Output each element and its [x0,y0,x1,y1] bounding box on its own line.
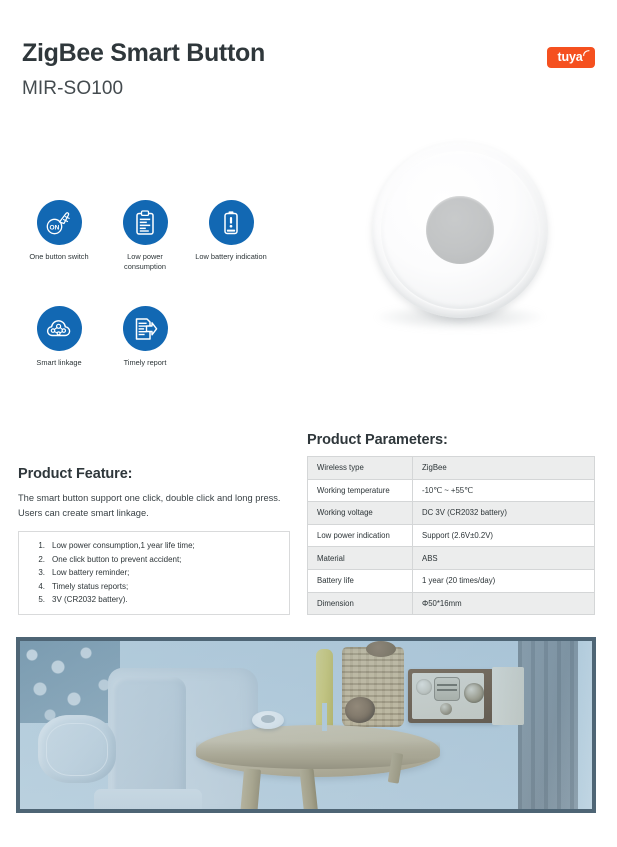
lifestyle-photo [16,637,596,813]
table-cell-key: Dimension [308,592,413,615]
product-parameters-heading: Product Parameters: [307,432,595,448]
list-item-number: 4. [35,580,52,594]
page-title: ZigBee Smart Button [22,38,595,68]
hero-inner-ring [381,151,539,309]
photo-radio-small-knob [440,703,452,715]
table-cell-value: Support (2.6V±0.2V) [413,524,595,547]
hero-outer-body [372,142,548,318]
table-cell-key: Low power indication [308,524,413,547]
photo-smart-button-center [261,715,275,723]
table-row: Battery life 1 year (20 times/day) [308,569,595,592]
feature-icon-empty-slot [188,306,274,368]
table-row: Dimension Φ50*16mm [308,592,595,615]
list-item: 2.One click button to prevent accident; [35,553,279,567]
cloud-network-icon [37,306,82,351]
table-row: Material ABS [308,547,595,570]
feature-icon-timely-report: Timely report [102,306,188,368]
feature-icon-smart-linkage: Smart linkage [16,306,102,368]
feature-icon-label: One button switch [14,252,104,262]
table-row: Wireless type ZigBee [308,457,595,480]
table-cell-value: DC 3V (CR2032 battery) [413,502,595,525]
list-item-number: 3. [35,566,52,580]
feature-icon-grid: ON One button switch [16,200,301,368]
page-header: ZigBee Smart Button MIR-SO100 tuya [22,38,595,100]
feature-icon-low-power-consumption: Low power consumption [102,200,188,272]
table-cell-key: Battery life [308,569,413,592]
photo-vase-notch [322,703,327,731]
list-item: 3.Low battery reminder; [35,566,279,580]
photo-sofa-seat [94,789,202,809]
product-feature-list-box: 1.Low power consumption,1 year life time… [18,531,290,615]
feature-icon-label: Smart linkage [14,358,104,368]
photo-curtain [518,641,580,809]
list-item-text: Timely status reports; [52,580,128,594]
list-item-number: 2. [35,553,52,567]
model-number: MIR-SO100 [22,78,595,100]
list-item-text: 3V (CR2032 battery). [52,593,128,607]
table-cell-value: ZigBee [413,457,595,480]
clipboard-icon [123,200,168,245]
feature-icon-low-battery-indication: Low battery indication [188,200,274,272]
table-row: Low power indication Support (2.6V±0.2V) [308,524,595,547]
table-row: Working temperature -10℃ ~ +55℃ [308,479,595,502]
feature-icon-label: Timely report [100,358,190,368]
tuya-logo: tuya [547,47,595,68]
table-cell-key: Material [308,547,413,570]
photo-radio-speaker [416,679,432,695]
product-feature-section: Product Feature: The smart button suppor… [18,466,290,521]
hero-center-button [426,196,494,264]
svg-text:ON: ON [50,224,60,231]
feature-icon-label: Low power consumption [100,252,190,272]
battery-warning-icon [209,200,254,245]
on-tag-hand-icon: ON [37,200,82,245]
list-item-number: 5. [35,593,52,607]
table-cell-value: -10℃ ~ +55℃ [413,479,595,502]
photo-radio-dial [434,677,460,701]
tuya-logo-text: tuya [558,51,585,64]
wifi-arc-icon [583,50,590,57]
feature-icon-label-line1: Low power [127,252,163,261]
product-hero-image [330,128,586,378]
list-item: 1.Low power consumption,1 year life time… [35,539,279,553]
photo-radio-knob [464,683,484,703]
table-cell-value: 1 year (20 times/day) [413,569,595,592]
list-item-text: Low power consumption,1 year life time; [52,539,195,553]
table-cell-value: Φ50*16mm [413,592,595,615]
photo-patterned-pillow [20,641,120,723]
table-cell-value: ABS [413,547,595,570]
photo-pinecone-top [366,641,396,657]
document-arrow-icon [123,306,168,351]
list-item-text: One click button to prevent accident; [52,553,181,567]
list-item-text: Low battery reminder; [52,566,129,580]
list-item-number: 1. [35,539,52,553]
product-feature-list: 1.Low power consumption,1 year life time… [35,539,279,607]
photo-radio-side-panel [492,667,524,725]
table-cell-key: Working voltage [308,502,413,525]
product-feature-description: The smart button support one click, doub… [18,491,290,521]
photo-wall-right [578,641,592,809]
photo-side-table-edge [196,741,440,769]
product-parameters-table: Wireless type ZigBee Working temperature… [307,456,595,615]
lifestyle-photo-scene [20,641,592,809]
product-parameters-section: Product Parameters: Wireless type ZigBee… [307,432,595,615]
table-cell-key: Working temperature [308,479,413,502]
photo-table-leg [240,768,261,809]
feature-icon-one-button-switch: ON One button switch [16,200,102,272]
feature-icon-label: Low battery indication [186,252,276,262]
photo-bolster-seam [46,723,108,776]
table-row: Working voltage DC 3V (CR2032 battery) [308,502,595,525]
feature-icon-label-line2: consumption [124,262,166,271]
product-feature-heading: Product Feature: [18,466,290,482]
list-item: 5.3V (CR2032 battery). [35,593,279,607]
table-cell-key: Wireless type [308,457,413,480]
list-item: 4.Timely status reports; [35,580,279,594]
